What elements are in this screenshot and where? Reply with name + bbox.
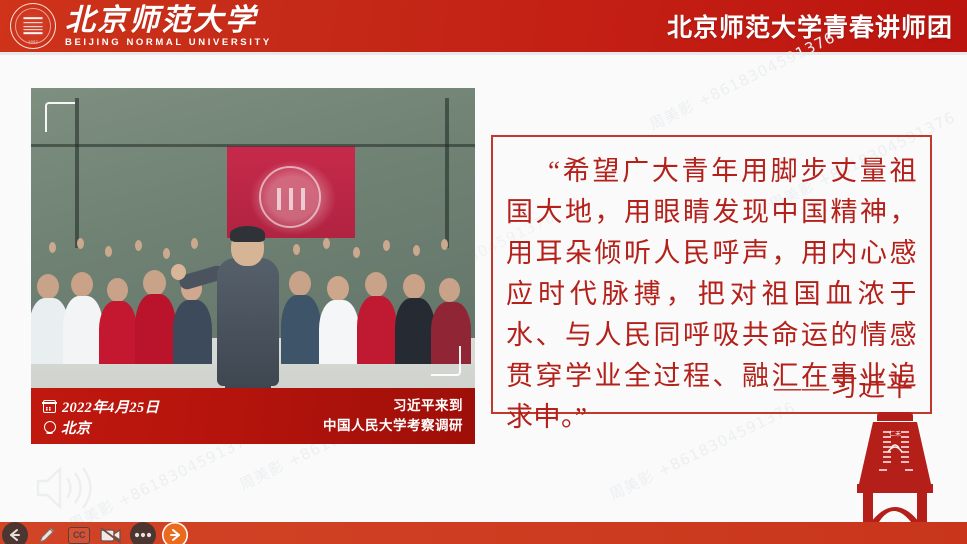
- speaker-volume-icon: [34, 462, 96, 514]
- bottom-toolbar: CC: [0, 522, 967, 544]
- more-options-icon[interactable]: [130, 522, 156, 544]
- photo-figure-hair: [230, 226, 265, 242]
- page-title: 北京师范大学青春讲师团: [667, 8, 953, 44]
- photo-pole: [445, 98, 449, 248]
- caption-date-row: 2022年4月25日: [43, 396, 159, 416]
- photo-figure-hand: [171, 264, 186, 280]
- caption-location-row: 北京: [43, 417, 159, 437]
- pen-annotate-icon[interactable]: [34, 522, 60, 544]
- brand-text: 北京师范大学 BEIJING NORMAL UNIVERSITY: [65, 5, 272, 48]
- toolbar-buttons: CC: [2, 522, 188, 544]
- caption-location: 北京: [61, 417, 91, 438]
- brand-name-en: BEIJING NORMAL UNIVERSITY: [65, 38, 272, 48]
- seal-emblem-icon: [24, 17, 43, 34]
- caption-headline: 习近平来到 中国人民大学考察调研: [323, 396, 463, 437]
- calendar-icon: [43, 400, 56, 413]
- photo-figure-body: [217, 258, 279, 386]
- brand-name-cn: 北京师范大学: [65, 5, 272, 37]
- video-off-icon[interactable]: [98, 522, 124, 544]
- bnu-seal-logo: 1902: [10, 3, 56, 49]
- seal-year-label: 1902: [28, 39, 38, 44]
- photo-corner-bracket-top-left: [45, 102, 75, 132]
- quote-attribution: ——习近平: [774, 365, 914, 404]
- caption-headline-line2: 中国人民大学考察调研: [323, 416, 463, 436]
- brand-block: 1902 北京师范大学 BEIJING NORMAL UNIVERSITY: [10, 3, 272, 49]
- mu-duo-bell-tower-illustration: 仁禾: [841, 404, 949, 522]
- caption-date: 2022年4月25日: [62, 396, 159, 417]
- photo-fence-line: [31, 144, 475, 147]
- photo-corner-bracket-bottom-right: [431, 346, 461, 376]
- caption-headline-line1: 习近平来到: [323, 396, 463, 416]
- photo-pole: [75, 98, 79, 248]
- forward-arrow-icon[interactable]: [162, 522, 188, 544]
- back-arrow-icon[interactable]: [2, 522, 28, 544]
- caption-meta: 2022年4月25日 北京: [43, 396, 159, 437]
- feature-photo: 2022年4月25日 北京 习近平来到 中国人民大学考察调研: [31, 88, 475, 444]
- svg-text:仁禾: 仁禾: [889, 430, 901, 438]
- location-pin-icon: [43, 421, 55, 434]
- page-header: 1902 北京师范大学 BEIJING NORMAL UNIVERSITY 北京…: [0, 0, 967, 52]
- photo-banner-seal: [259, 166, 321, 228]
- photo-caption-bar: 2022年4月25日 北京 习近平来到 中国人民大学考察调研: [31, 388, 475, 444]
- cc-label: CC: [68, 527, 90, 544]
- quote-panel: “希望广大青年用脚步丈量祖国大地，用眼睛发现中国精神，用耳朵倾听人民呼声，用内心…: [491, 135, 932, 414]
- header-divider: [0, 52, 967, 55]
- cc-captions-icon[interactable]: CC: [66, 522, 92, 544]
